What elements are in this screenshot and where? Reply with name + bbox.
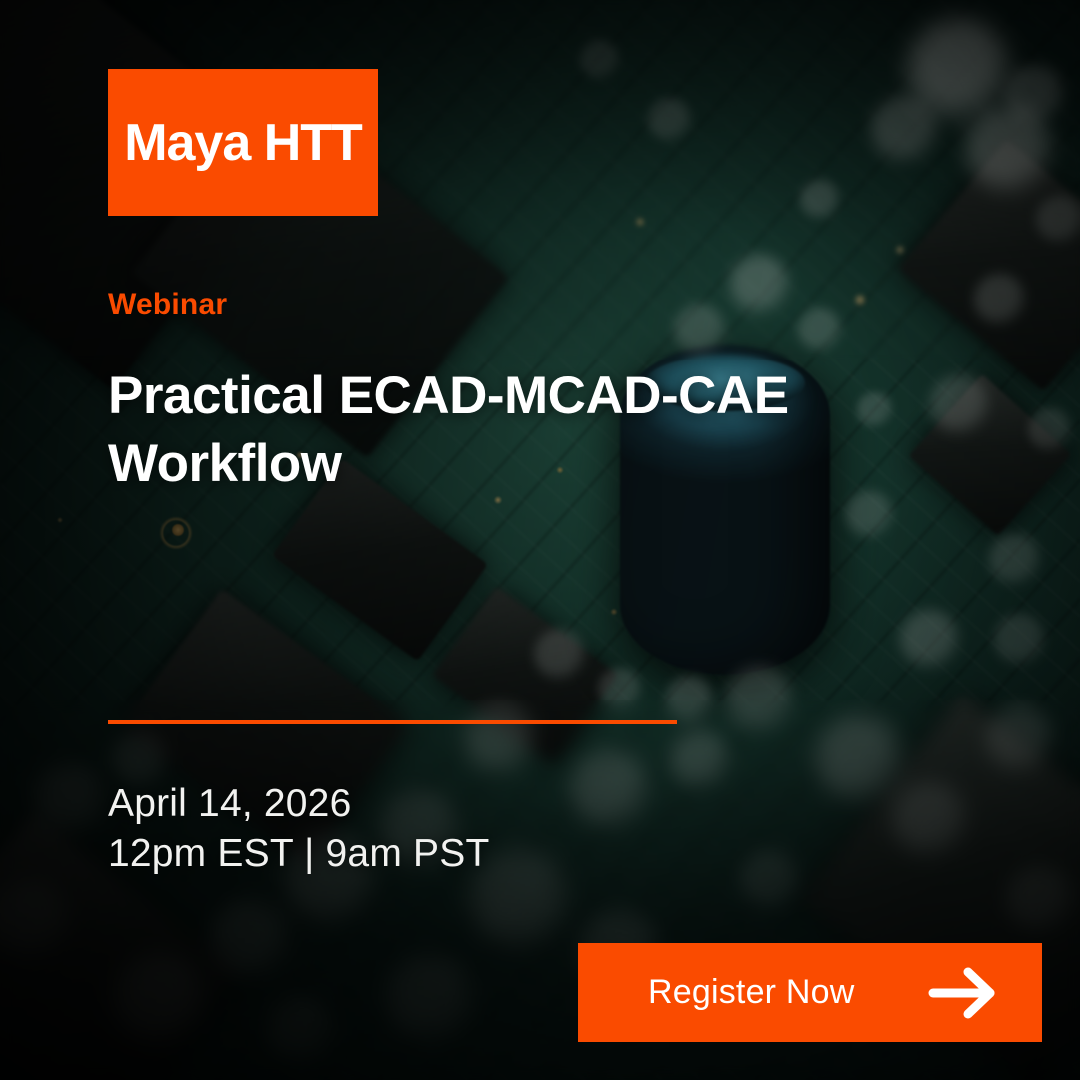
page-title-line-2: Workflow	[108, 430, 928, 498]
register-now-button[interactable]: Register Now	[578, 943, 1042, 1042]
event-time: 12pm EST | 9am PST	[108, 829, 490, 879]
eyebrow-label: Webinar	[108, 288, 227, 321]
page-title-line-1: Practical ECAD-MCAD-CAE	[108, 362, 928, 430]
event-schedule: April 14, 2026 12pm EST | 9am PST	[108, 779, 490, 879]
arrow-right-icon	[928, 967, 1000, 1019]
page-title: Practical ECAD-MCAD-CAE Workflow	[108, 362, 928, 498]
divider-rule	[108, 720, 677, 724]
webinar-promo-poster: Maya HTT Webinar Practical ECAD-MCAD-CAE…	[0, 0, 1080, 1080]
event-date: April 14, 2026	[108, 779, 490, 829]
register-now-label: Register Now	[648, 973, 854, 1012]
brand-logo-text: Maya HTT	[124, 117, 362, 169]
brand-logo[interactable]: Maya HTT	[108, 69, 378, 216]
